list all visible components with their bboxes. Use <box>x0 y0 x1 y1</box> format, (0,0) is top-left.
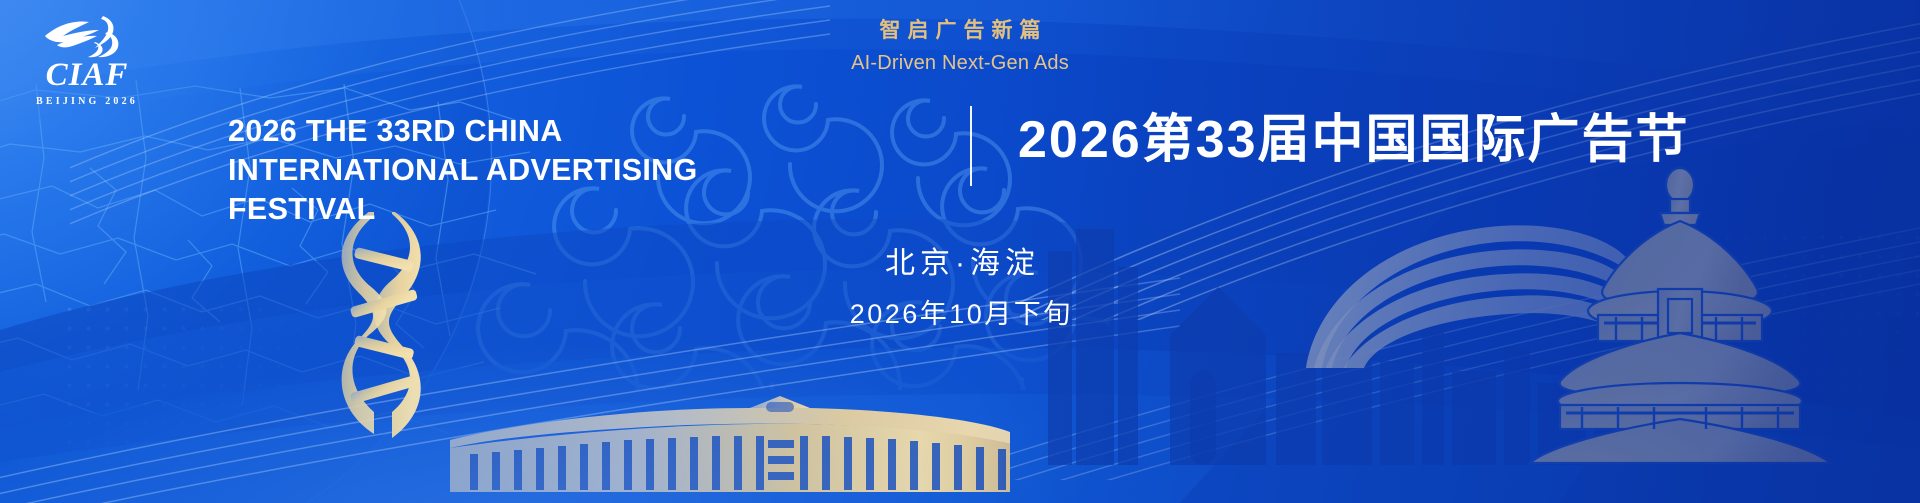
event-title-chinese: 2026第33届中国国际广告节 <box>1018 108 1690 173</box>
tagline-block: 智启广告新篇 AI-Driven Next-Gen Ads <box>700 18 1220 76</box>
logo-acronym: CIAF <box>22 59 152 93</box>
tagline-english: AI-Driven Next-Gen Ads <box>700 51 1220 76</box>
logo-city-year: BEIJING 2026 <box>22 96 152 107</box>
ciaf-swoosh-icon <box>41 14 133 58</box>
event-date: 2026年10月下旬 <box>700 292 1220 331</box>
title-divider <box>970 106 972 186</box>
ciaf-event-banner: CIAF BEIJING 2026 智启广告新篇 AI-Driven Next-… <box>0 0 1920 503</box>
ciaf-logo[interactable]: CIAF BEIJING 2026 <box>22 14 152 110</box>
tagline-chinese: 智启广告新篇 <box>700 18 1220 44</box>
event-title-english: 2026 THE 33RD CHINA INTERNATIONAL ADVERT… <box>228 112 788 229</box>
event-location: 北京·海淀 <box>700 238 1220 282</box>
